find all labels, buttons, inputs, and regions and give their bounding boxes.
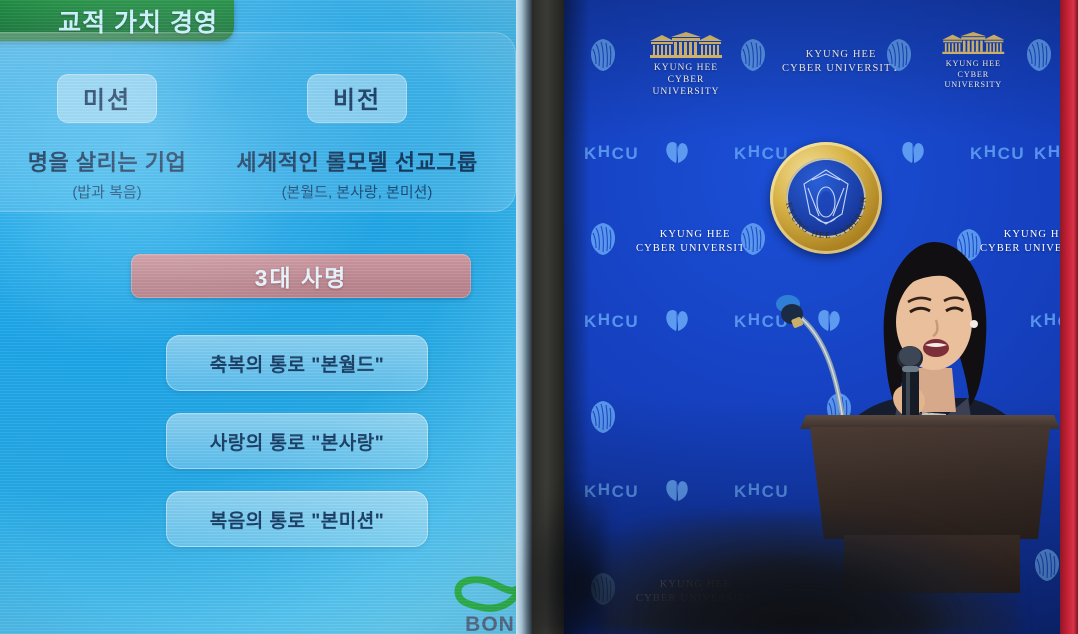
mission-chip: 미션 [57, 74, 157, 123]
foreground-left-shadow [495, 470, 605, 634]
motif-lion [738, 38, 768, 77]
khcu-abbrev-text: K [970, 144, 984, 163]
khcu-abbrev-tile: KHCU [970, 144, 1025, 164]
vision-column: 비전 세계적인 롤모델 선교그룹 (본월드, 본사랑, 본미션) [232, 74, 482, 202]
khcu-abbrev-tile: KHCU [734, 482, 789, 502]
motif-logo: KYUNG HEE CYBER UNIVERSITY [932, 32, 1015, 90]
tile-wordmark-line1: KYUNG HEE [654, 63, 718, 73]
tile-wordmark-line1: KYUNG HEE [806, 49, 877, 60]
tile-wordmark-line2: CYBER UNIVERSITY [782, 63, 900, 74]
khcu-abbrev-tile: KHCU [734, 144, 789, 164]
motif-text: KYUNG HEE CYBER UNIVERSITY [636, 228, 754, 255]
motif-khcu: KHCU [734, 482, 789, 502]
university-building-icon [638, 32, 734, 58]
khcu-abbrev-text: K [734, 482, 748, 501]
tile-wordmark-line2: CYBER UNIVERSITY [636, 243, 754, 254]
khcu-abbrev-text: K [734, 312, 748, 331]
khcu-abbrev-tile: KHCU [584, 312, 639, 332]
tile-wordmark-line1: KYUNG HEE [660, 229, 731, 240]
mission-column: 미션 명을 살리는 기업 (밥과 복음) [2, 74, 212, 202]
vision-subtext: (본월드, 본사랑, 본미션) [232, 181, 482, 202]
khcu-abbrev-stem: H [984, 142, 998, 161]
khcu-logo-tile: KYUNG HEE CYBER UNIVERSITY [932, 32, 1015, 90]
khcu-logo-tile: KYUNG HEE CYBER UNIVERSITY [638, 32, 734, 99]
motif-lion [738, 222, 768, 261]
khcu-abbrev-stem: H [748, 142, 762, 161]
motif-lion [588, 400, 618, 439]
khcu-abbrev-text: K [734, 144, 748, 163]
projection-screen: 교적 가치 경영 미션 명을 살리는 기업 (밥과 복음) 비전 세계적인 롤모… [0, 0, 516, 634]
khcu-abbrev-text: K [1034, 144, 1048, 163]
motif-lion [884, 38, 914, 77]
khcu-abbrev-rest: CU [998, 144, 1026, 163]
lion-head-icon [588, 222, 618, 256]
khcu-abbrev-tile: KHCU [584, 144, 639, 164]
motif-leaf [664, 308, 690, 337]
foreground-silhouette-core [648, 548, 948, 634]
mission-pill: 복음의 통로 "본미션" [166, 491, 428, 547]
photo-scene: 교적 가치 경영 미션 명을 살리는 기업 (밥과 복음) 비전 세계적인 롤모… [0, 0, 1078, 634]
motif-khcu: KHCU [584, 312, 639, 332]
lotus-leaf-icon [664, 140, 690, 164]
khcu-abbrev-rest: CU [612, 144, 640, 163]
khcu-abbrev-stem: H [598, 142, 612, 161]
khcu-abbrev-stem: H [1048, 142, 1060, 161]
mission-vision-panel: 미션 명을 살리는 기업 (밥과 복음) 비전 세계적인 롤모델 선교그룹 (본… [0, 32, 516, 212]
khcu-abbrev-stem: H [598, 310, 612, 329]
mission-pill: 사랑의 통로 "본사랑" [166, 413, 428, 469]
lion-head-icon [738, 222, 768, 256]
khcu-abbrev-stem: H [748, 480, 762, 499]
vision-statement: 세계적인 롤모델 선교그룹 [232, 145, 482, 177]
tile-wordmark-line2: CYBER UNIVERSITY [653, 75, 720, 97]
lotus-leaf-icon [900, 140, 926, 164]
mission-subtext: (밥과 복음) [2, 181, 212, 202]
earring [970, 320, 978, 328]
lion-head-icon [588, 400, 618, 434]
mission-pill: 축복의 통로 "본월드" [166, 335, 428, 391]
vision-chip: 비전 [307, 74, 407, 123]
motif-lion [588, 38, 618, 77]
khcu-text-tile: KYUNG HEE CYBER UNIVERSITY [636, 228, 754, 255]
khcu-abbrev-tile: KHCU [1034, 144, 1060, 164]
khcu-abbrev-rest: CU [612, 312, 640, 331]
mouth [923, 339, 949, 357]
three-missions-header: 3대 사명 [131, 254, 471, 298]
side-wall-crimson [1060, 0, 1078, 634]
lion-head-icon [884, 38, 914, 72]
motif-khcu: KHCU [970, 144, 1025, 164]
lotus-leaf-icon [664, 478, 690, 502]
lectern-top [800, 415, 1060, 429]
lotus-leaf-icon [664, 308, 690, 332]
motif-lion [1024, 38, 1054, 77]
mission-pill-label: 축복의 통로 "본월드" [210, 350, 384, 377]
lion-head-icon [588, 38, 618, 72]
khcu-abbrev-rest: CU [612, 482, 640, 501]
motif-leaf [900, 140, 926, 169]
mission-statement: 명을 살리는 기업 [2, 145, 212, 177]
three-missions-header-text: 3대 사명 [255, 259, 348, 293]
mission-pill-label: 복음의 통로 "본미션" [210, 506, 384, 533]
motif-lion [588, 222, 618, 261]
motif-text: KYUNG HEE CYBER UNIVERSITY [782, 48, 900, 75]
mission-pill-label: 사랑의 통로 "본사랑" [210, 428, 384, 455]
lion-head-icon [738, 38, 768, 72]
tile-wordmark-line1: KYUNG HEE [946, 59, 1001, 68]
motif-khcu: KHCU [734, 144, 789, 164]
lion-head-icon [1024, 38, 1054, 72]
motif-logo: KYUNG HEE CYBER UNIVERSITY [638, 32, 734, 99]
motif-khcu: KHCU [584, 144, 639, 164]
motif-leaf [664, 140, 690, 169]
khcu-abbrev-stem: H [748, 310, 762, 329]
motif-leaf [664, 478, 690, 507]
khcu-abbrev-rest: CU [762, 482, 790, 501]
motif-khcu: KHCU [1034, 144, 1060, 164]
tile-wordmark-line2: CYBER UNIVERSITY [945, 70, 1003, 89]
khcu-text-tile: KYUNG HEE CYBER UNIVERSITY [782, 48, 900, 75]
university-building-icon [932, 32, 1015, 54]
